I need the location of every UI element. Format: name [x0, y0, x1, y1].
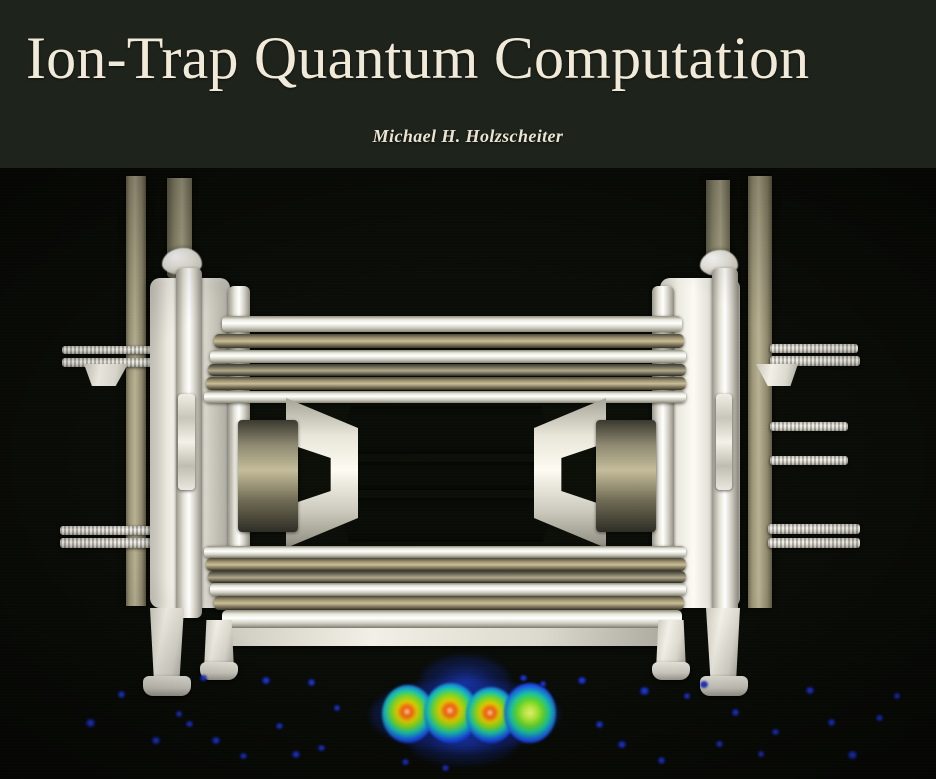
noise-speck — [200, 675, 207, 681]
electrode-rod-top-6 — [204, 391, 686, 403]
noise-speck — [806, 687, 814, 694]
noise-speck — [318, 745, 325, 751]
feedthrough-screw-right-mid2 — [770, 456, 848, 465]
feedthrough-screw-right-mid — [770, 422, 848, 431]
ion-fluorescence-image — [0, 619, 936, 779]
noise-speck — [176, 711, 182, 717]
noise-speck — [716, 741, 723, 747]
noise-speck — [618, 741, 626, 748]
feedthrough-screw-right-upper — [770, 344, 858, 353]
noise-speck — [596, 721, 603, 728]
noise-speck — [540, 681, 546, 687]
electrode-rod-bottom-4 — [210, 583, 686, 596]
electrode-rod-bottom-3 — [208, 571, 686, 583]
trap-gap-upper — [338, 406, 554, 454]
noise-speck — [402, 759, 409, 765]
ion-trap-photograph — [0, 168, 936, 779]
inner-electrode-left — [238, 420, 298, 532]
trap-gap-lower — [336, 498, 556, 542]
noise-speck — [276, 723, 283, 729]
noise-speck — [118, 691, 125, 698]
inner-electrode-right — [596, 420, 656, 532]
noise-speck — [658, 757, 665, 764]
noise-speck — [292, 751, 300, 758]
feedthrough-screw-left-lower2 — [60, 538, 156, 548]
noise-speck — [732, 709, 739, 716]
noise-speck — [240, 753, 247, 759]
noise-speck — [86, 719, 95, 727]
noise-speck — [700, 681, 708, 688]
electrode-rod-top-5 — [206, 377, 686, 390]
noise-speck — [758, 751, 764, 757]
noise-speck — [152, 737, 160, 744]
feedthrough-screw-left-upper — [62, 346, 154, 354]
noise-speck — [186, 721, 193, 727]
noise-speck — [520, 675, 527, 681]
noise-speck — [262, 677, 270, 684]
title-block: Ion-Trap Quantum Computation Michael H. … — [0, 0, 936, 168]
noise-speck — [894, 693, 900, 699]
noise-speck — [640, 687, 649, 695]
noise-speck — [684, 693, 690, 699]
trapped-ion-4 — [504, 683, 556, 743]
feedthrough-screw-left-lower — [60, 526, 156, 535]
noise-speck — [442, 765, 449, 771]
electrode-rod-top-3 — [210, 350, 686, 363]
presentation-slide: Ion-Trap Quantum Computation Michael H. … — [0, 0, 936, 779]
noise-speck — [772, 729, 779, 735]
electrode-rod-bottom-1 — [204, 546, 686, 558]
author-byline: Michael H. Holzscheiter — [0, 126, 936, 147]
page-title: Ion-Trap Quantum Computation — [26, 26, 906, 90]
noise-speck — [578, 677, 586, 684]
bracket-left-upper — [84, 364, 128, 386]
noise-speck — [334, 705, 340, 711]
noise-speck — [848, 751, 857, 759]
noise-speck — [308, 679, 315, 686]
noise-speck — [876, 715, 883, 721]
insulator-stack-left — [178, 394, 195, 490]
trap-gap-middle — [330, 462, 558, 490]
electrode-rod-top-4 — [208, 364, 686, 376]
electrode-rod-bottom-5 — [214, 596, 684, 610]
insulator-stack-right — [716, 394, 732, 490]
feedthrough-screw-right-lower — [768, 524, 860, 534]
electrode-rod-top-2 — [214, 334, 684, 348]
noise-speck — [212, 737, 220, 744]
electrode-rod-top-1 — [222, 316, 682, 332]
feedthrough-screw-right-lower2 — [768, 538, 860, 548]
noise-speck — [828, 719, 835, 726]
electrode-rod-bottom-2 — [206, 558, 686, 571]
